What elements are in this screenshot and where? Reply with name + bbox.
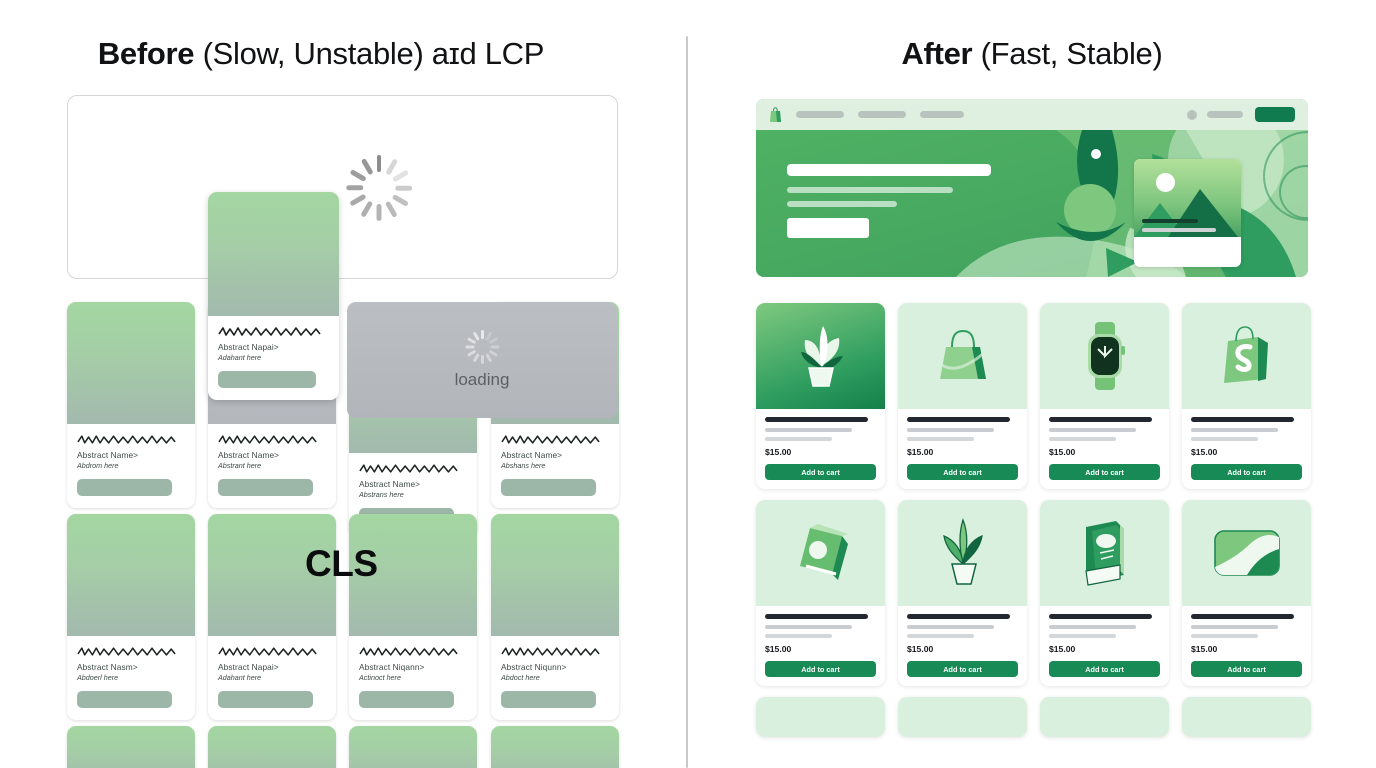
image-tile-icon bbox=[1213, 527, 1281, 579]
scribble-text-icon bbox=[359, 462, 459, 475]
product-card: $15.00Add to cart bbox=[1040, 303, 1169, 489]
product-desc-placeholder-1 bbox=[1049, 428, 1136, 432]
product-price: $15.00 bbox=[765, 644, 876, 654]
add-to-cart-button[interactable]: Add to cart bbox=[1049, 661, 1160, 677]
loading-label: loading bbox=[455, 370, 510, 390]
skeleton-thumbnail bbox=[208, 726, 336, 768]
account-pill[interactable] bbox=[1207, 111, 1243, 118]
add-to-cart-button[interactable]: Add to cart bbox=[765, 661, 876, 677]
skeleton-product-card bbox=[491, 726, 619, 768]
hero-image-card bbox=[1134, 159, 1241, 267]
product-title-placeholder bbox=[765, 417, 868, 422]
skeleton-product-card bbox=[208, 726, 336, 768]
hero-headline-bar bbox=[787, 164, 991, 176]
product-card: $15.00Add to cart bbox=[898, 303, 1027, 489]
product-desc-placeholder-1 bbox=[1191, 428, 1278, 432]
skeleton-thumbnail bbox=[491, 514, 619, 636]
skeleton-line-primary: Abstract Name> bbox=[77, 450, 185, 460]
add-to-cart-button[interactable]: Add to cart bbox=[1191, 464, 1302, 480]
scribble-text-icon bbox=[359, 645, 459, 658]
mountain-icon bbox=[1134, 159, 1241, 237]
product-image bbox=[756, 500, 885, 606]
shopify-bag-icon[interactable] bbox=[769, 107, 782, 123]
skeleton-product-card: Abstract Niqunn>Abdoct here bbox=[491, 514, 619, 720]
skeleton-card-body: Abstract Name>Abstrant here bbox=[208, 424, 336, 508]
skeleton-button[interactable] bbox=[501, 479, 596, 496]
product-title-placeholder bbox=[1049, 417, 1152, 422]
product-body: $15.00Add to cart bbox=[898, 606, 1027, 686]
hero-subtext-bar-1 bbox=[787, 187, 953, 193]
tote-bag-icon bbox=[932, 325, 994, 387]
skeleton-line-primary: Abstract Name> bbox=[359, 479, 467, 489]
before-shifted-card: Abstract Napai> Adahant here bbox=[208, 192, 339, 400]
product-price: $15.00 bbox=[907, 447, 1018, 457]
hero-card-line-2 bbox=[1142, 228, 1216, 232]
skeleton-line-primary: Abstract Niqann> bbox=[359, 662, 467, 672]
plant-leaves-icon bbox=[932, 518, 994, 588]
skeleton-button[interactable] bbox=[501, 691, 596, 708]
product-image bbox=[1182, 697, 1311, 737]
product-price: $15.00 bbox=[1049, 644, 1160, 654]
skeleton-thumbnail bbox=[67, 726, 195, 768]
product-title-placeholder bbox=[907, 417, 1010, 422]
book-icon bbox=[1076, 519, 1134, 587]
product-card: $15.00Add to cart bbox=[898, 500, 1027, 686]
add-to-cart-button[interactable]: Add to cart bbox=[765, 464, 876, 480]
skeleton-line-secondary: Adahant here bbox=[218, 673, 326, 682]
skeleton-line-secondary: Abdoct here bbox=[501, 673, 609, 682]
product-card bbox=[898, 697, 1027, 737]
skeleton-line-primary: Abstract Nasm> bbox=[77, 662, 185, 672]
product-price: $15.00 bbox=[765, 447, 876, 457]
product-price: $15.00 bbox=[907, 644, 1018, 654]
product-desc-placeholder-2 bbox=[1049, 437, 1116, 441]
skeleton-line-secondary: Abdrom here bbox=[77, 461, 185, 470]
skeleton-card-body: Abstract Name>Abshans here bbox=[491, 424, 619, 508]
product-body: $15.00Add to cart bbox=[756, 606, 885, 686]
product-card: $15.00Add to cart bbox=[1182, 303, 1311, 489]
hero-primary-button[interactable] bbox=[787, 218, 869, 238]
skeleton-product-card bbox=[67, 726, 195, 768]
hero-nav-bar bbox=[756, 99, 1308, 130]
product-desc-placeholder-1 bbox=[765, 625, 852, 629]
skeleton-line-secondary: Abstrant here bbox=[218, 461, 326, 470]
hero-subtext-bar-2 bbox=[787, 201, 897, 207]
after-title-rest: (Fast, Stable) bbox=[981, 36, 1163, 71]
product-desc-placeholder-1 bbox=[907, 625, 994, 629]
scribble-text-icon bbox=[218, 433, 318, 446]
product-image bbox=[756, 697, 885, 737]
after-panel-title: After (Fast, Stable) bbox=[688, 36, 1376, 72]
skeleton-line-secondary: Actinoct here bbox=[359, 673, 467, 682]
after-title-bold: After bbox=[901, 36, 972, 71]
skeleton-line-secondary: Abdoerl here bbox=[77, 673, 185, 682]
skeleton-button[interactable] bbox=[218, 479, 313, 496]
skeleton-product-card: Abstract Nasm>Abdoerl here bbox=[67, 514, 195, 720]
shopify-bag-icon bbox=[1218, 325, 1276, 387]
soap-box-icon bbox=[788, 522, 854, 584]
skeleton-line-secondary: Abstrans here bbox=[359, 490, 467, 499]
product-body: $15.00Add to cart bbox=[756, 409, 885, 489]
cls-label: CLS bbox=[305, 543, 378, 585]
product-desc-placeholder-1 bbox=[907, 428, 994, 432]
product-desc-placeholder-1 bbox=[1049, 625, 1136, 629]
product-card: $15.00Add to cart bbox=[756, 303, 885, 489]
product-desc-placeholder-1 bbox=[765, 428, 852, 432]
before-title-rest: (Slow, Unstable) aɪd LCP bbox=[203, 36, 545, 71]
skeleton-line-primary: Abstract Napai> bbox=[218, 662, 326, 672]
product-title-placeholder bbox=[907, 614, 1010, 619]
skeleton-product-card: Abstract Name>Abdrom here bbox=[67, 302, 195, 508]
product-image bbox=[898, 697, 1027, 737]
potted-plant-icon bbox=[789, 322, 853, 390]
product-desc-placeholder-2 bbox=[907, 634, 974, 638]
product-image bbox=[756, 303, 885, 409]
skeleton-card-body: Abstract Name>Abdrom here bbox=[67, 424, 195, 508]
skeleton-thumbnail bbox=[67, 514, 195, 636]
skeleton-product-card bbox=[349, 726, 477, 768]
add-to-cart-button[interactable]: Add to cart bbox=[907, 661, 1018, 677]
spinner-icon bbox=[465, 330, 499, 364]
scribble-text-icon bbox=[77, 645, 177, 658]
product-body: $15.00Add to cart bbox=[898, 409, 1027, 489]
hero-image-thumbnail bbox=[1134, 159, 1241, 237]
product-desc-placeholder-2 bbox=[765, 634, 832, 638]
skeleton-button[interactable] bbox=[218, 691, 313, 708]
product-image bbox=[1040, 697, 1169, 737]
nav-pill-1[interactable] bbox=[796, 111, 844, 118]
add-to-cart-button[interactable]: Add to cart bbox=[1049, 464, 1160, 480]
product-title-placeholder bbox=[765, 614, 868, 619]
product-title-placeholder bbox=[1191, 417, 1294, 422]
comparison-stage: Before (Slow, Unstable) aɪd LCP Abstract… bbox=[0, 0, 1376, 768]
product-card: $15.00Add to cart bbox=[1182, 500, 1311, 686]
product-image bbox=[898, 500, 1027, 606]
product-card bbox=[1040, 697, 1169, 737]
skeleton-line-primary: Abstract Name> bbox=[218, 450, 326, 460]
skeleton-thumbnail bbox=[491, 726, 619, 768]
skeleton-line-secondary: Abshans here bbox=[501, 461, 609, 470]
header-cta-button[interactable] bbox=[1255, 107, 1295, 122]
product-price: $15.00 bbox=[1049, 447, 1160, 457]
before-panel: Before (Slow, Unstable) aɪd LCP Abstract… bbox=[0, 0, 686, 768]
skeleton-card-body: Abstract Napai>Adahant here bbox=[208, 636, 336, 720]
skeleton-line-secondary: Adahant here bbox=[218, 353, 329, 362]
product-desc-placeholder-2 bbox=[765, 437, 832, 441]
product-body: $15.00Add to cart bbox=[1182, 606, 1311, 686]
skeleton-thumbnail bbox=[349, 726, 477, 768]
product-image bbox=[1182, 500, 1311, 606]
product-card: $15.00Add to cart bbox=[1040, 500, 1169, 686]
skeleton-card-body: Abstract Niqunn>Abdoct here bbox=[491, 636, 619, 720]
spinner-icon bbox=[346, 155, 412, 221]
skeleton-button[interactable] bbox=[77, 691, 172, 708]
avatar-icon[interactable] bbox=[1187, 110, 1197, 120]
smartwatch-icon bbox=[1080, 320, 1130, 392]
skeleton-card-body: Abstract Niqann>Actinoct here bbox=[349, 636, 477, 720]
product-body: $15.00Add to cart bbox=[1040, 606, 1169, 686]
before-loading-block: loading bbox=[347, 302, 617, 418]
skeleton-line-primary: Abstract Name> bbox=[501, 450, 609, 460]
scribble-text-icon bbox=[218, 645, 318, 658]
skeleton-thumbnail bbox=[67, 302, 195, 424]
hero-content bbox=[756, 130, 1308, 277]
product-card bbox=[1182, 697, 1311, 737]
skeleton-line-primary: Abstract Napai> bbox=[218, 342, 329, 352]
product-body: $15.00Add to cart bbox=[1040, 409, 1169, 489]
after-hero-banner bbox=[756, 99, 1308, 277]
skeleton-thumbnail bbox=[208, 192, 339, 316]
skeleton-button bbox=[218, 371, 316, 388]
product-image bbox=[1040, 303, 1169, 409]
before-panel-title: Before (Slow, Unstable) aɪd LCP bbox=[0, 36, 664, 72]
before-hero-placeholder bbox=[67, 95, 618, 279]
product-card bbox=[756, 697, 885, 737]
product-price: $15.00 bbox=[1191, 447, 1302, 457]
product-body: $15.00Add to cart bbox=[1182, 409, 1311, 489]
product-card: $15.00Add to cart bbox=[756, 500, 885, 686]
nav-pill-2[interactable] bbox=[858, 111, 906, 118]
scribble-text-icon bbox=[77, 433, 177, 446]
product-title-placeholder bbox=[1049, 614, 1152, 619]
product-price: $15.00 bbox=[1191, 644, 1302, 654]
product-desc-placeholder-1 bbox=[1191, 625, 1278, 629]
skeleton-line-primary: Abstract Niqunn> bbox=[501, 662, 609, 672]
add-to-cart-button[interactable]: Add to cart bbox=[907, 464, 1018, 480]
add-to-cart-button[interactable]: Add to cart bbox=[1191, 661, 1302, 677]
product-image bbox=[898, 303, 1027, 409]
scribble-text-icon bbox=[501, 433, 601, 446]
skeleton-card-body: Abstract Napai> Adahant here bbox=[208, 316, 339, 400]
skeleton-button[interactable] bbox=[77, 479, 172, 496]
product-title-placeholder bbox=[1191, 614, 1294, 619]
after-product-grid: $15.00Add to cart$15.00Add to cart$15.00… bbox=[756, 303, 1312, 748]
product-desc-placeholder-2 bbox=[907, 437, 974, 441]
product-image bbox=[1040, 500, 1169, 606]
product-image bbox=[1182, 303, 1311, 409]
scribble-text-icon bbox=[501, 645, 601, 658]
nav-pill-3[interactable] bbox=[920, 111, 964, 118]
skeleton-button[interactable] bbox=[359, 691, 454, 708]
skeleton-card-body: Abstract Nasm>Abdoerl here bbox=[67, 636, 195, 720]
product-desc-placeholder-2 bbox=[1049, 634, 1116, 638]
hero-card-line-1 bbox=[1142, 219, 1198, 223]
product-desc-placeholder-2 bbox=[1191, 634, 1258, 638]
scribble-text-icon bbox=[218, 325, 322, 338]
product-desc-placeholder-2 bbox=[1191, 437, 1258, 441]
before-title-bold: Before bbox=[98, 36, 194, 71]
